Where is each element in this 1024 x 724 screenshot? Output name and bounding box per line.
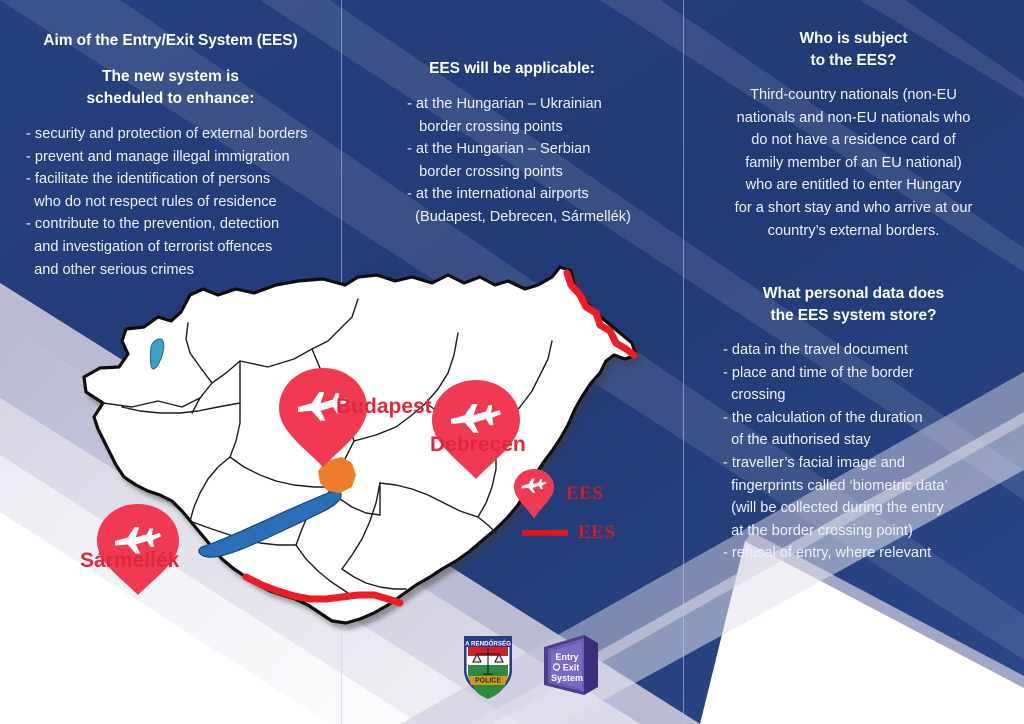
stored-list: - data in the travel document - place an…	[693, 339, 1014, 565]
police-logo-bottom-text: POLICE	[475, 678, 501, 685]
list-item: - the calculation of the duration	[723, 407, 1014, 430]
list-item: (Budapest, Debrecen, Sármellék)	[407, 206, 675, 229]
subject-title-line-1: Who is subject	[697, 28, 1010, 50]
aim-subtitle-line-1: The new system is	[8, 66, 333, 88]
border-line-icon	[522, 530, 568, 536]
subject-paragraph: Third-country nationals (non-EU national…	[697, 84, 1010, 242]
hungary-map-svg: Budapest Debrecen Sármellék	[40, 255, 700, 655]
panel-personal-data-stored: What personal data does the EES system s…	[683, 283, 1024, 565]
legend-row-airport: EES	[512, 468, 603, 520]
subject-title-line-2: to the EES?	[697, 50, 1010, 72]
subject-title: Who is subject to the EES?	[697, 28, 1010, 72]
paragraph-line: nationals and non-EU nationals who	[697, 107, 1010, 130]
legend-label-border: EES	[578, 522, 615, 544]
applicable-title: EES will be applicable:	[349, 58, 675, 80]
ees-logo-line-3: System	[551, 673, 583, 683]
applicable-list: - at the Hungarian – Ukrainian border cr…	[349, 93, 675, 229]
legend-row-border: EES	[512, 522, 615, 544]
list-item: - at the Hungarian – Ukrainian	[407, 93, 675, 116]
list-item: - at the international airports	[407, 183, 675, 206]
panel-ees-applicable: EES will be applicable: - at the Hungari…	[341, 58, 683, 229]
list-item: border crossing points	[407, 116, 675, 139]
list-item: - data in the travel document	[723, 339, 1014, 362]
paragraph-line: do not have a residence card of	[697, 129, 1010, 152]
list-item: who do not respect rules of residence	[26, 191, 333, 214]
panel-aim-of-ees: Aim of the Entry/Exit System (EES) The n…	[0, 30, 341, 281]
paragraph-line: Third-country nationals (non-EU	[697, 84, 1010, 107]
paragraph-line: who are entitled to enter Hungary	[697, 174, 1010, 197]
stored-title-line-2: the EES system store?	[693, 305, 1014, 327]
list-item: - prevent and manage illegal immigration	[26, 146, 333, 169]
ees-logo-line-1: Entry	[555, 652, 578, 662]
airport-pin-icon	[512, 468, 556, 520]
stored-title-line-1: What personal data does	[693, 283, 1014, 305]
paragraph-line: for a short stay and who arrive at our	[697, 197, 1010, 220]
map-legend: EES EES	[512, 468, 682, 554]
panel-who-is-subject: Who is subject to the EES? Third-country…	[683, 28, 1024, 242]
list-item: of the authorised stay	[723, 429, 1014, 452]
paragraph-line: country’s external borders.	[697, 220, 1010, 243]
ees-logo-line-2: Exit	[563, 663, 580, 673]
list-item: - refusal of entry, where relevant	[723, 542, 1014, 565]
list-item: - security and protection of external bo…	[26, 123, 333, 146]
marker-sarmellek[interactable]: Sármellék	[80, 504, 180, 595]
list-item: - contribute to the prevention, detectio…	[26, 213, 333, 236]
ees-system-logo: Entry Exit System	[538, 633, 602, 699]
marker-label-budapest: Budapest	[336, 395, 432, 418]
list-item: (will be collected during the entry	[723, 497, 1014, 520]
hungary-map: Budapest Debrecen Sármellék	[40, 255, 700, 655]
police-logo-top-text: A RENDŐRSÉG	[465, 639, 511, 647]
aim-subtitle-line-2: scheduled to enhance:	[8, 88, 333, 110]
hungarian-police-logo: A RENDŐRSÉG POLICE	[460, 630, 516, 700]
aim-title: Aim of the Entry/Exit System (EES)	[8, 30, 333, 52]
list-item: border crossing points	[407, 161, 675, 184]
logo-row: A RENDŐRSÉG POLICE	[456, 630, 616, 706]
marker-label-sarmellek: Sármellék	[80, 549, 180, 572]
paragraph-line: family member of an EU national)	[697, 152, 1010, 175]
list-item: at the border crossing point)	[723, 520, 1014, 543]
stored-title: What personal data does the EES system s…	[693, 283, 1014, 327]
list-item: - place and time of the border	[723, 362, 1014, 385]
aim-subtitle: The new system is scheduled to enhance:	[8, 66, 333, 110]
list-item: - traveller’s facial image and	[723, 452, 1014, 475]
list-item: fingerprints called ‘biometric data’	[723, 475, 1014, 498]
list-item: crossing	[723, 384, 1014, 407]
legend-label-airport: EES	[566, 483, 603, 505]
list-item: - facilitate the identification of perso…	[26, 168, 333, 191]
infographic-canvas: Aim of the Entry/Exit System (EES) The n…	[0, 0, 1024, 724]
list-item: - at the Hungarian – Serbian	[407, 138, 675, 161]
marker-label-debrecen: Debrecen	[430, 433, 526, 456]
